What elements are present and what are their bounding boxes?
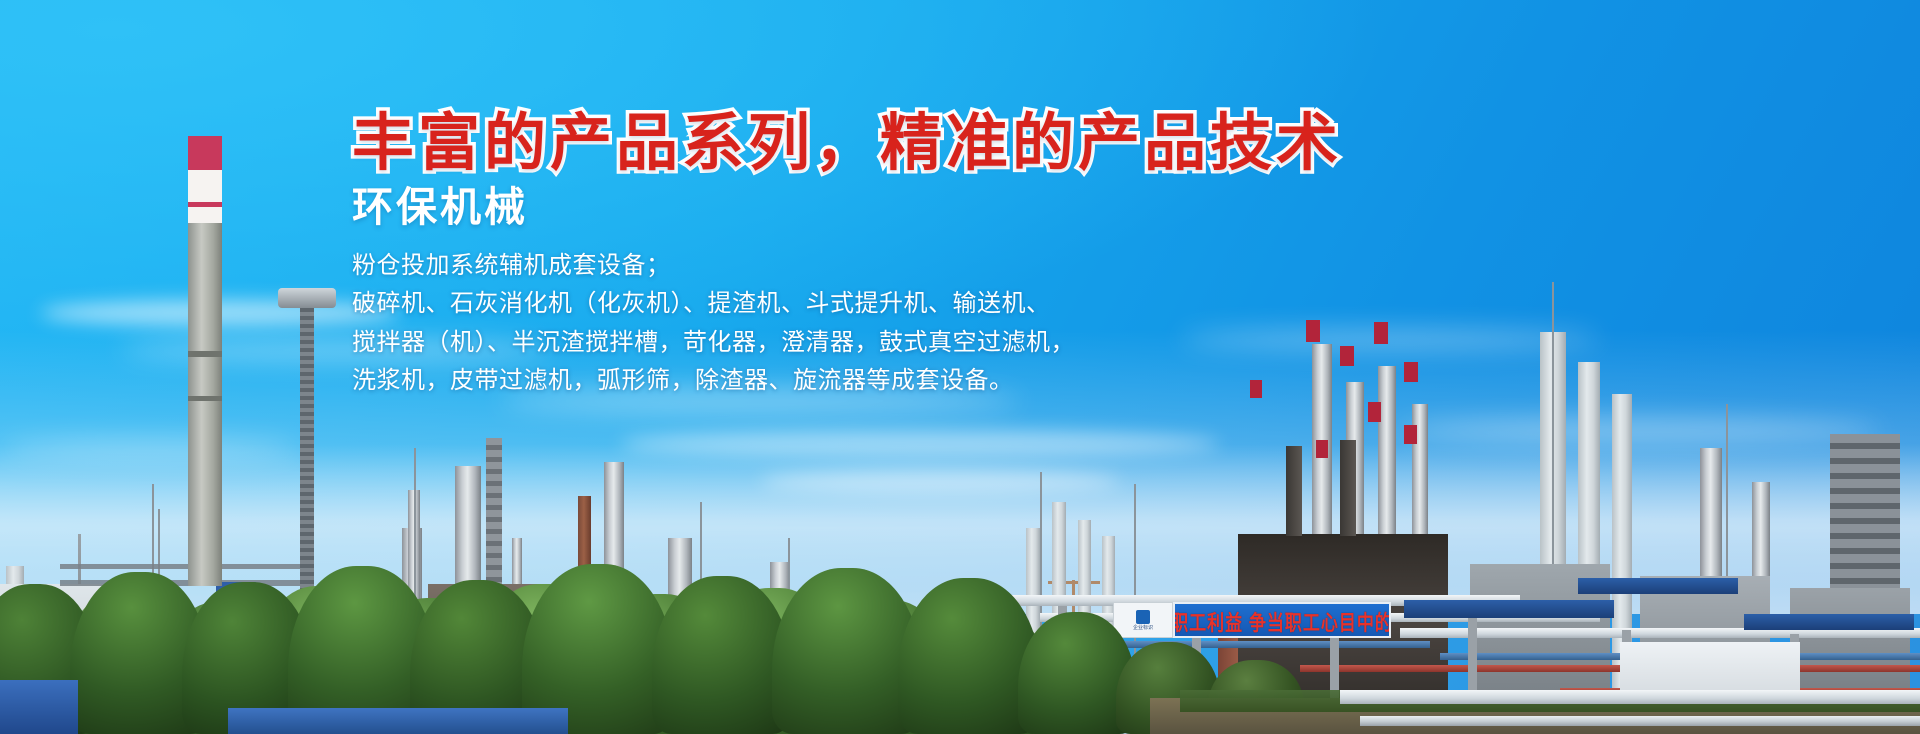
stack-red-marker	[1316, 440, 1328, 458]
body-line: 洗浆机，皮带过滤机，弧形筛，除渣器、旋流器等成套设备。	[352, 361, 1332, 399]
striped-smokestack	[188, 136, 222, 586]
hero-banner: 企业标识 爱护职工利益 争当职工心目中的标兵	[0, 0, 1920, 734]
stack-ring	[188, 396, 222, 401]
headline: 丰富的产品系列，精准的产品技术	[352, 110, 1472, 177]
stack-band-white	[188, 207, 222, 223]
blue-roof-foreground	[0, 680, 78, 734]
stack-duct	[1340, 440, 1356, 536]
hero-text-block: 丰富的产品系列，精准的产品技术 环保机械 粉仓投加系统辅机成套设备； 破碎机、石…	[352, 110, 1472, 400]
body-line: 破碎机、石灰消化机（化灰机）、提渣机、斗式提升机、输送机、	[352, 284, 1332, 322]
stack-red-marker	[1368, 402, 1381, 422]
stack-band-gray	[188, 223, 222, 586]
stack-band-white	[188, 170, 222, 202]
pipe-foreground	[1360, 716, 1920, 726]
body-line: 粉仓投加系统辅机成套设备；	[352, 246, 1332, 284]
tree	[652, 576, 792, 734]
stack-ring	[188, 351, 222, 357]
body-line: 搅拌器（机）、半沉渣搅拌槽，苛化器，澄清器，鼓式真空过滤机，	[352, 323, 1332, 361]
flood-light-head	[278, 288, 336, 308]
stack-band-red	[188, 136, 222, 170]
stack-red-marker	[1404, 425, 1417, 444]
subheadline: 环保机械	[352, 185, 1472, 230]
pipe-rack-foreground	[1340, 690, 1920, 704]
stack-duct	[1286, 446, 1302, 536]
body-text: 粉仓投加系统辅机成套设备； 破碎机、石灰消化机（化灰机）、提渣机、斗式提升机、输…	[352, 246, 1332, 400]
blue-roof-foreground	[228, 708, 568, 734]
